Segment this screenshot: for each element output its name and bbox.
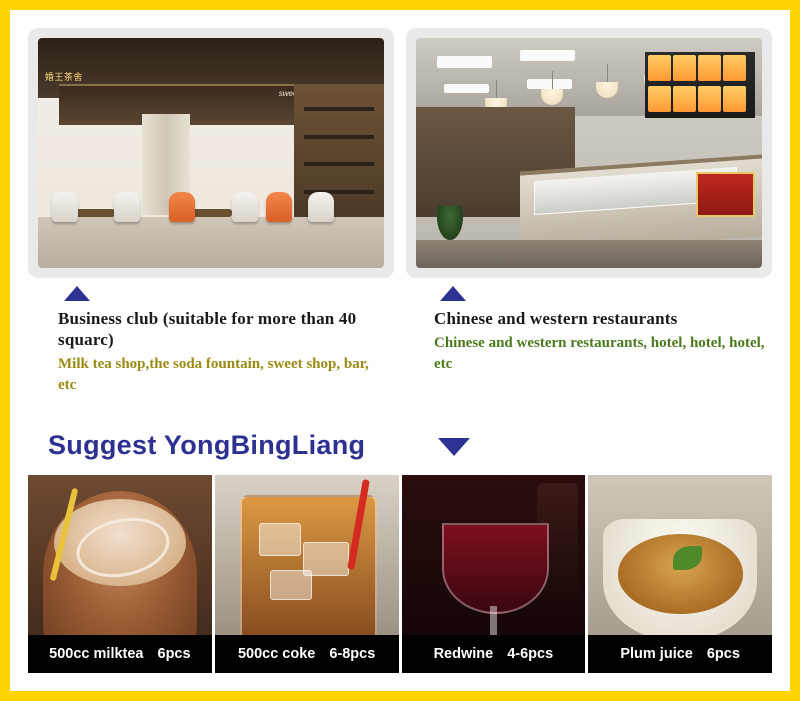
suggest-heading: Suggest YongBingLiang — [48, 430, 365, 461]
shop-sign-logo: 婚王茶舍 — [45, 70, 83, 83]
product-qty-milktea: 6pcs — [158, 646, 191, 662]
product-name-plumjuice: Plum juice — [620, 646, 693, 662]
product-qty-plumjuice: 6pcs — [707, 646, 740, 662]
product-name-redwine: Redwine — [434, 646, 494, 662]
panel-chinese-western-restaurants — [406, 28, 772, 278]
caption-sub-business-club: Milk tea shop,the soda fountain, sweet s… — [58, 354, 388, 396]
menu-board — [645, 52, 755, 118]
restaurant-illustration — [416, 38, 762, 268]
arrow-up-icon-left — [64, 286, 90, 301]
page-inner: 婚王茶舍 sweets full cheese cake — [20, 20, 780, 681]
arrow-up-icon-right — [440, 286, 466, 301]
photo-panels: 婚王茶舍 sweets full cheese cake — [28, 28, 772, 278]
product-qty-coke: 6-8pcs — [329, 646, 375, 662]
caption-sub-restaurants: Chinese and western restaurants, hotel, … — [434, 333, 784, 375]
product-qty-redwine: 4-6pcs — [507, 646, 553, 662]
product-caption-coke: 500cc coke 6-8pcs — [215, 635, 399, 673]
caption-business-club: Business club (suitable for more than 40… — [58, 286, 388, 396]
product-infographic-page: 婚王茶舍 sweets full cheese cake — [0, 0, 800, 701]
product-caption-milktea: 500cc milktea 6pcs — [28, 635, 212, 673]
product-strip: 500cc milktea 6pcs 500cc coke 6-8pcs — [28, 475, 772, 673]
caption-title-restaurants: Chinese and western restaurants — [434, 308, 784, 329]
product-name-milktea: 500cc milktea — [49, 646, 143, 662]
restaurant-photo — [416, 38, 762, 268]
product-cell-coke: 500cc coke 6-8pcs — [215, 475, 402, 673]
caption-restaurants: Chinese and western restaurants Chinese … — [434, 286, 784, 375]
product-caption-redwine: Redwine 4-6pcs — [402, 635, 586, 673]
product-cell-milktea: 500cc milktea 6pcs — [28, 475, 215, 673]
business-club-photo: 婚王茶舍 sweets full cheese cake — [38, 38, 384, 268]
product-name-coke: 500cc coke — [238, 646, 315, 662]
caption-title-business-club: Business club (suitable for more than 40… — [58, 308, 388, 350]
milk-tea-shop-illustration: 婚王茶舍 sweets full cheese cake — [38, 38, 384, 268]
product-caption-plumjuice: Plum juice 6pcs — [588, 635, 772, 673]
product-cell-plumjuice: Plum juice 6pcs — [588, 475, 772, 673]
arrow-down-icon — [438, 438, 470, 456]
product-cell-redwine: Redwine 4-6pcs — [402, 475, 589, 673]
panel-business-club: 婚王茶舍 sweets full cheese cake — [28, 28, 394, 278]
